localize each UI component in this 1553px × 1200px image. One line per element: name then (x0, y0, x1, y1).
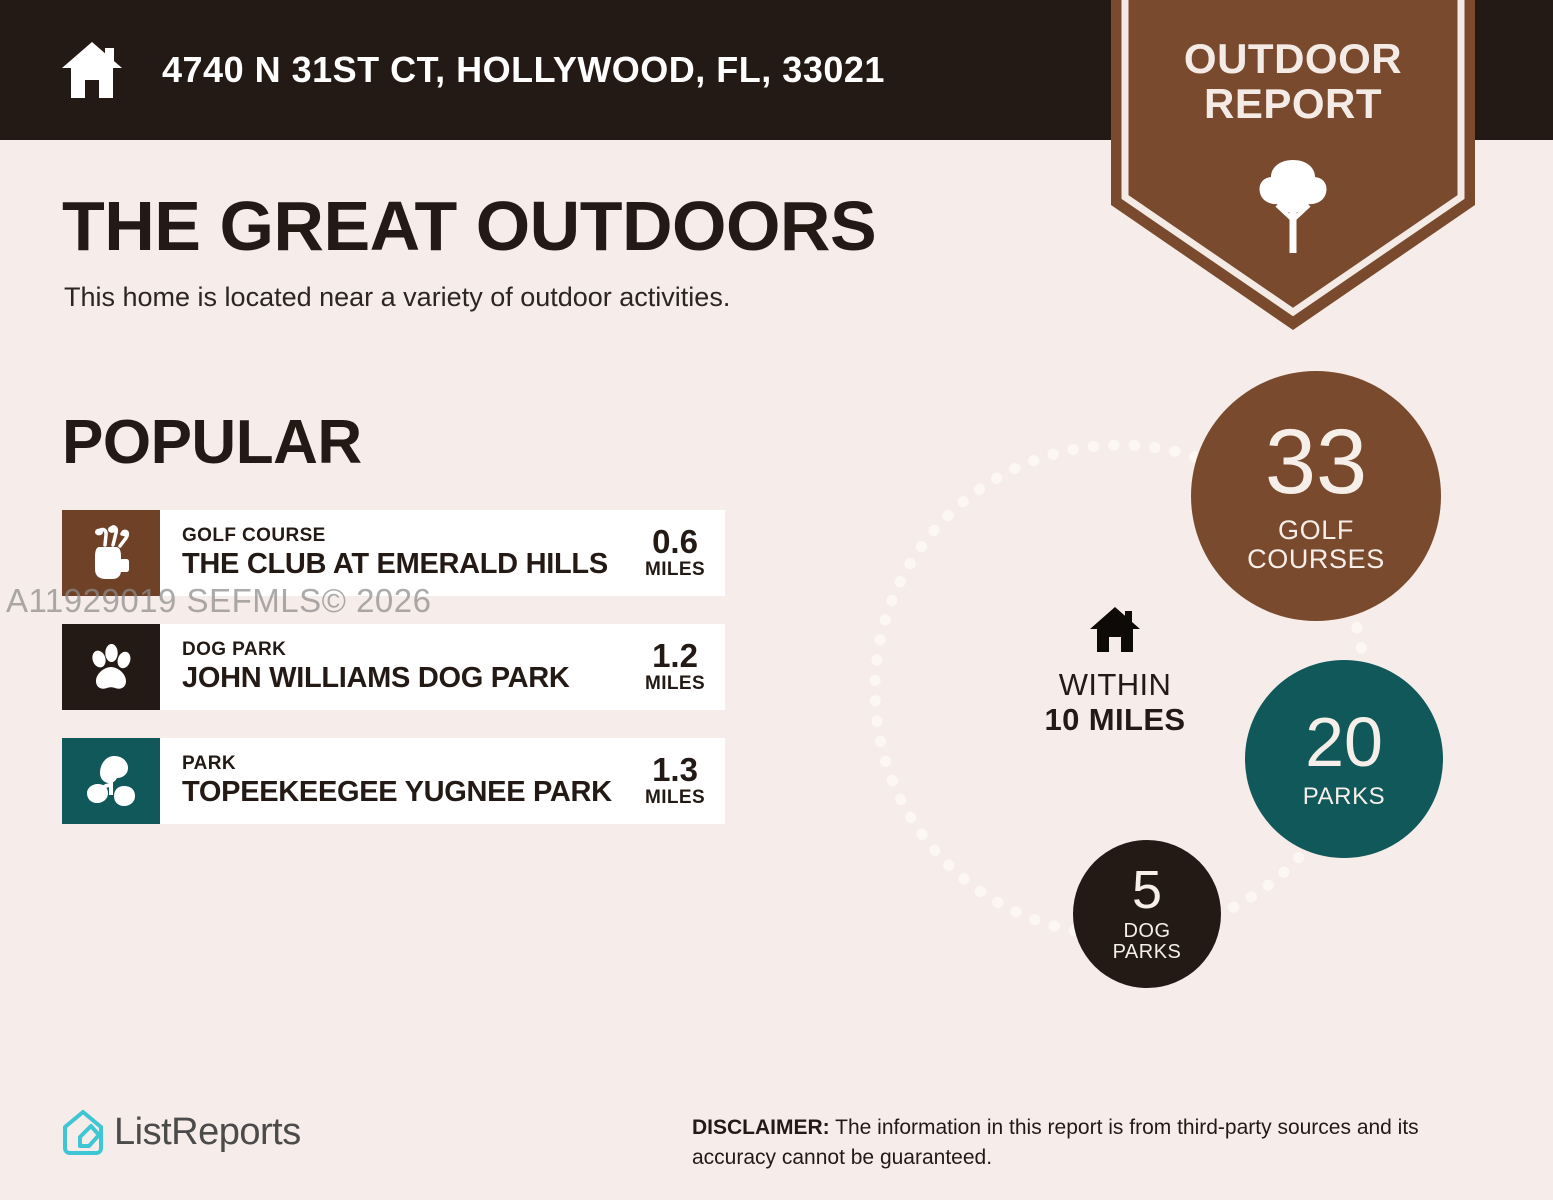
page-subtitle: This home is located near a variety of o… (64, 282, 730, 313)
stat-circle-parks: 20 PARKS (1245, 660, 1443, 858)
page-title: THE GREAT OUTDOORS (62, 186, 876, 266)
poi-distance-unit: MILES (645, 788, 705, 809)
listreports-logo-text: ListReports (114, 1111, 301, 1154)
poi-body: GOLF COURSE THE CLUB AT EMERALD HILLS 0.… (160, 510, 725, 596)
poi-texts: GOLF COURSE THE CLUB AT EMERALD HILLS (182, 525, 608, 581)
poi-texts: DOG PARK JOHN WILLIAMS DOG PARK (182, 639, 570, 695)
stat-label-line1: GOLF (1247, 516, 1385, 544)
disclaimer-label: DISCLAIMER: (692, 1116, 830, 1139)
within-label-line1: WITHIN (1005, 668, 1225, 703)
poi-distance: 1.3 MILES (639, 753, 711, 809)
poi-icon-tile (62, 510, 160, 596)
disclaimer: DISCLAIMER: The information in this repo… (692, 1113, 1492, 1174)
poi-distance: 1.2 MILES (639, 639, 711, 695)
poi-distance-value: 1.2 (652, 639, 698, 674)
poi-icon-tile (62, 624, 160, 710)
stat-label: PARKS (1303, 784, 1386, 809)
poi-name: THE CLUB AT EMERALD HILLS (182, 548, 608, 581)
stat-label-line1: DOG (1113, 921, 1182, 942)
stat-value: 33 (1265, 419, 1367, 506)
stat-label: DOG PARKS (1113, 921, 1182, 963)
within-label-line2: 10 MILES (1005, 703, 1225, 738)
poi-name: JOHN WILLIAMS DOG PARK (182, 662, 570, 695)
poi-distance-unit: MILES (645, 674, 705, 695)
home-icon (1088, 605, 1142, 655)
stat-label-line2: COURSES (1247, 545, 1385, 573)
golf-bag-icon (85, 525, 137, 581)
stat-label-line2: PARKS (1113, 942, 1182, 963)
list-item[interactable]: GOLF COURSE THE CLUB AT EMERALD HILLS 0.… (62, 510, 725, 596)
park-trees-icon (84, 753, 138, 809)
poi-category: GOLF COURSE (182, 525, 608, 548)
paw-print-icon (85, 640, 137, 694)
list-item[interactable]: PARK TOPEEKEEGEE YUGNEE PARK 1.3 MILES (62, 738, 725, 824)
stat-label: GOLF COURSES (1247, 516, 1385, 573)
poi-body: DOG PARK JOHN WILLIAMS DOG PARK 1.2 MILE… (160, 624, 725, 710)
outdoor-report-badge: OUTDOOR REPORT (1111, 0, 1475, 330)
poi-icon-tile (62, 738, 160, 824)
listreports-house-pen-icon (60, 1107, 106, 1157)
listreports-logo[interactable]: ListReports (60, 1107, 301, 1157)
stat-label-line1: PARKS (1303, 784, 1386, 809)
list-item[interactable]: DOG PARK JOHN WILLIAMS DOG PARK 1.2 MILE… (62, 624, 725, 710)
stat-circle-dog-parks: 5 DOG PARKS (1073, 840, 1221, 988)
poi-body: PARK TOPEEKEEGEE YUGNEE PARK 1.3 MILES (160, 738, 725, 824)
poi-distance-value: 1.3 (652, 753, 698, 788)
poi-distance-value: 0.6 (652, 525, 698, 560)
poi-texts: PARK TOPEEKEEGEE YUGNEE PARK (182, 753, 612, 809)
outdoor-stats-infographic: 33 GOLF COURSES 20 PARKS 5 DOG PARKS WIT… (845, 350, 1505, 1050)
badge-shield-shape (1111, 0, 1475, 330)
poi-distance-unit: MILES (645, 560, 705, 581)
stat-value: 20 (1305, 709, 1383, 776)
home-icon (58, 39, 126, 101)
stat-value: 5 (1132, 865, 1162, 916)
popular-poi-list: GOLF COURSE THE CLUB AT EMERALD HILLS 0.… (62, 510, 725, 852)
poi-category: DOG PARK (182, 639, 570, 662)
poi-distance: 0.6 MILES (639, 525, 711, 581)
header-address: 4740 N 31ST CT, HOLLYWOOD, FL, 33021 (162, 49, 885, 91)
section-title-popular: POPULAR (62, 407, 362, 478)
within-radius-block: WITHIN 10 MILES (1005, 605, 1225, 737)
stat-circle-golf-courses: 33 GOLF COURSES (1191, 371, 1441, 621)
poi-category: PARK (182, 753, 612, 776)
poi-name: TOPEEKEEGEE YUGNEE PARK (182, 776, 612, 809)
